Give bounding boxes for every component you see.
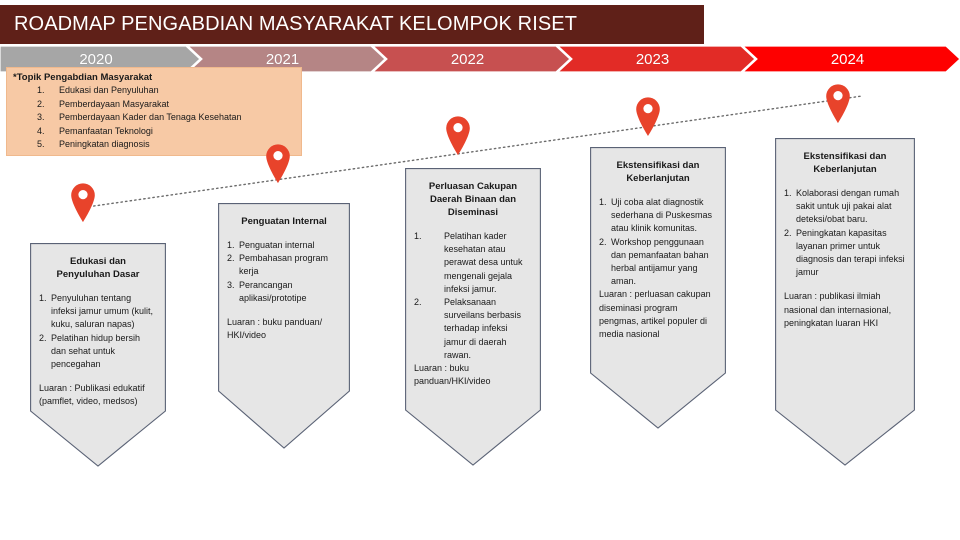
card-output-text: Luaran : perluasan cakupan diseminasi pr… <box>599 288 717 341</box>
topic-item-text: Edukasi dan Penyuluhan <box>59 84 159 98</box>
card-item-number: 1. <box>227 239 239 252</box>
map-pin-icon-3 <box>443 114 473 156</box>
card-list-item: 1.Uji coba alat diagnostik sederhana di … <box>599 196 717 236</box>
card-body: Edukasi danPenyuluhan Dasar1.Penyuluhan … <box>30 243 166 409</box>
card-list-item: 1.Penyuluhan tentang infeksi jamur umum … <box>39 292 157 332</box>
topic-item-text: Pemberdayaan Kader dan Tenaga Kesehatan <box>59 111 241 125</box>
topic-item-number: 2. <box>13 98 59 112</box>
card-title: Ekstensifikasi danKeberlanjutan <box>784 150 906 176</box>
card-item-text: Penyuluhan tentang infeksi jamur umum (k… <box>51 292 157 332</box>
card-item-text: Uji coba alat diagnostik sederhana di Pu… <box>611 196 717 236</box>
topic-list-item: 5.Peningkatan diagnosis <box>13 138 295 152</box>
milestone-card-2[interactable]: Penguatan Internal1.Penguatan internal2.… <box>218 203 350 449</box>
card-list-item: 1.Kolaborasi dengan rumah sakit untuk uj… <box>784 187 906 227</box>
card-item-number: 1. <box>414 230 444 296</box>
card-item-number: 1. <box>39 292 51 332</box>
milestone-card-1[interactable]: Edukasi danPenyuluhan Dasar1.Penyuluhan … <box>30 243 166 467</box>
topic-item-number: 3. <box>13 111 59 125</box>
card-item-number: 1. <box>599 196 611 236</box>
card-title-line: Perluasan Cakupan <box>414 180 532 193</box>
card-output-text: Luaran : buku panduan/ HKI/video <box>227 316 341 342</box>
card-list-item: 2.Peningkatan kapasitas layanan primer u… <box>784 227 906 280</box>
card-item-text: Pelatihan kader kesehatan atau perawat d… <box>444 230 532 296</box>
card-item-list: 1.Kolaborasi dengan rumah sakit untuk uj… <box>784 187 906 279</box>
map-pin-icon-4 <box>633 95 663 137</box>
topic-callout-box: *Topik Pengabdian Masyarakat 1.Edukasi d… <box>6 67 302 156</box>
topic-item-number: 1. <box>13 84 59 98</box>
timeline-year-2022[interactable]: 2022 <box>373 46 570 72</box>
card-item-number: 2. <box>39 332 51 372</box>
card-item-text: Penguatan internal <box>239 239 341 252</box>
topic-item-text: Peningkatan diagnosis <box>59 138 150 152</box>
card-item-number: 2. <box>227 252 239 278</box>
card-spacer <box>784 279 906 290</box>
card-item-list: 1.Uji coba alat diagnostik sederhana di … <box>599 196 717 288</box>
card-item-text: Pembahasan program kerja <box>239 252 341 278</box>
card-output-text: Luaran : buku panduan/HKI/video <box>414 362 532 388</box>
card-list-item: 1.Penguatan internal <box>227 239 341 252</box>
card-title-line: Ekstensifikasi dan <box>784 150 906 163</box>
card-list-item: 1.Pelatihan kader kesehatan atau perawat… <box>414 230 532 296</box>
year-label: 2023 <box>636 51 669 68</box>
card-spacer <box>39 371 157 382</box>
card-item-text: Kolaborasi dengan rumah sakit untuk uji … <box>796 187 906 227</box>
card-body: Penguatan Internal1.Penguatan internal2.… <box>218 203 350 342</box>
card-output-text: Luaran : publikasi ilmiah nasional dan i… <box>784 290 906 330</box>
timeline-year-2023[interactable]: 2023 <box>558 46 755 72</box>
card-body: Ekstensifikasi danKeberlanjutan1.Kolabor… <box>775 138 915 330</box>
card-item-text: Perancangan aplikasi/prototipe <box>239 279 341 305</box>
card-title-line: Edukasi dan <box>39 255 157 268</box>
card-item-text: Pelatihan hidup bersih dan sehat untuk p… <box>51 332 157 372</box>
milestone-card-5[interactable]: Ekstensifikasi danKeberlanjutan1.Kolabor… <box>775 138 915 466</box>
page-title: ROADMAP PENGABDIAN MASYARAKAT KELOMPOK R… <box>0 13 577 36</box>
card-title: Perluasan CakupanDaerah Binaan danDisemi… <box>414 180 532 219</box>
card-title-line: Keberlanjutan <box>599 172 717 185</box>
card-list-item: 3.Perancangan aplikasi/prototipe <box>227 279 341 305</box>
card-title-line: Ekstensifikasi dan <box>599 159 717 172</box>
card-list-item: 2.Pembahasan program kerja <box>227 252 341 278</box>
timeline-year-2024[interactable]: 2024 <box>743 46 960 72</box>
map-pin-icon-5 <box>823 82 853 124</box>
card-item-list: 1.Penguatan internal2.Pembahasan program… <box>227 239 341 305</box>
milestone-card-3[interactable]: Perluasan CakupanDaerah Binaan danDisemi… <box>405 168 541 466</box>
card-title-line: Penguatan Internal <box>227 215 341 228</box>
card-title-line: Daerah Binaan dan <box>414 193 532 206</box>
topic-list-item: 1.Edukasi dan Penyuluhan <box>13 84 295 98</box>
card-title: Edukasi danPenyuluhan Dasar <box>39 255 157 281</box>
card-title: Penguatan Internal <box>227 215 341 228</box>
card-list-item: 2.Pelaksanaan surveilans berbasis terhad… <box>414 296 532 362</box>
card-title-line: Keberlanjutan <box>784 163 906 176</box>
card-item-text: Peningkatan kapasitas layanan primer unt… <box>796 227 906 280</box>
header-bar: ROADMAP PENGABDIAN MASYARAKAT KELOMPOK R… <box>0 5 704 44</box>
card-body: Perluasan CakupanDaerah Binaan danDisemi… <box>405 168 541 388</box>
card-item-number: 1. <box>784 187 796 227</box>
map-pin-icon-2 <box>263 142 293 184</box>
card-output-text: Luaran : Publikasi edukatif (pamflet, vi… <box>39 382 157 408</box>
card-list-item: 2.Workshop penggunaan dan pemanfaatan ba… <box>599 236 717 289</box>
topic-list-item: 2.Pemberdayaan Masyarakat <box>13 98 295 112</box>
year-label: 2022 <box>451 51 484 68</box>
year-label: 2020 <box>79 51 112 68</box>
card-item-text: Pelaksanaan surveilans berbasis terhadap… <box>444 296 532 362</box>
topic-item-text: Pemanfaatan Teknologi <box>59 125 153 139</box>
card-item-text: Workshop penggunaan dan pemanfaatan baha… <box>611 236 717 289</box>
year-label: 2021 <box>266 51 299 68</box>
card-title-line: Diseminasi <box>414 206 532 219</box>
card-item-list: 1.Penyuluhan tentang infeksi jamur umum … <box>39 292 157 371</box>
milestone-card-4[interactable]: Ekstensifikasi danKeberlanjutan1.Uji cob… <box>590 147 726 429</box>
card-item-number: 2. <box>414 296 444 362</box>
topic-item-text: Pemberdayaan Masyarakat <box>59 98 169 112</box>
roadmap-slide: ROADMAP PENGABDIAN MASYARAKAT KELOMPOK R… <box>0 0 960 540</box>
topic-box-title: *Topik Pengabdian Masyarakat <box>13 72 295 83</box>
card-spacer <box>227 305 341 316</box>
card-item-number: 2. <box>599 236 611 289</box>
card-title: Ekstensifikasi danKeberlanjutan <box>599 159 717 185</box>
map-pin-icon-1 <box>68 181 98 223</box>
topic-item-number: 4. <box>13 125 59 139</box>
card-item-list: 1.Pelatihan kader kesehatan atau perawat… <box>414 230 532 362</box>
year-label: 2024 <box>831 51 864 68</box>
card-body: Ekstensifikasi danKeberlanjutan1.Uji cob… <box>590 147 726 341</box>
topic-box-list: 1.Edukasi dan Penyuluhan2.Pemberdayaan M… <box>13 84 295 152</box>
card-list-item: 2.Pelatihan hidup bersih dan sehat untuk… <box>39 332 157 372</box>
topic-item-number: 5. <box>13 138 59 152</box>
card-item-number: 2. <box>784 227 796 280</box>
topic-list-item: 3.Pemberdayaan Kader dan Tenaga Kesehata… <box>13 111 295 125</box>
card-title-line: Penyuluhan Dasar <box>39 268 157 281</box>
card-item-number: 3. <box>227 279 239 305</box>
topic-list-item: 4.Pemanfaatan Teknologi <box>13 125 295 139</box>
